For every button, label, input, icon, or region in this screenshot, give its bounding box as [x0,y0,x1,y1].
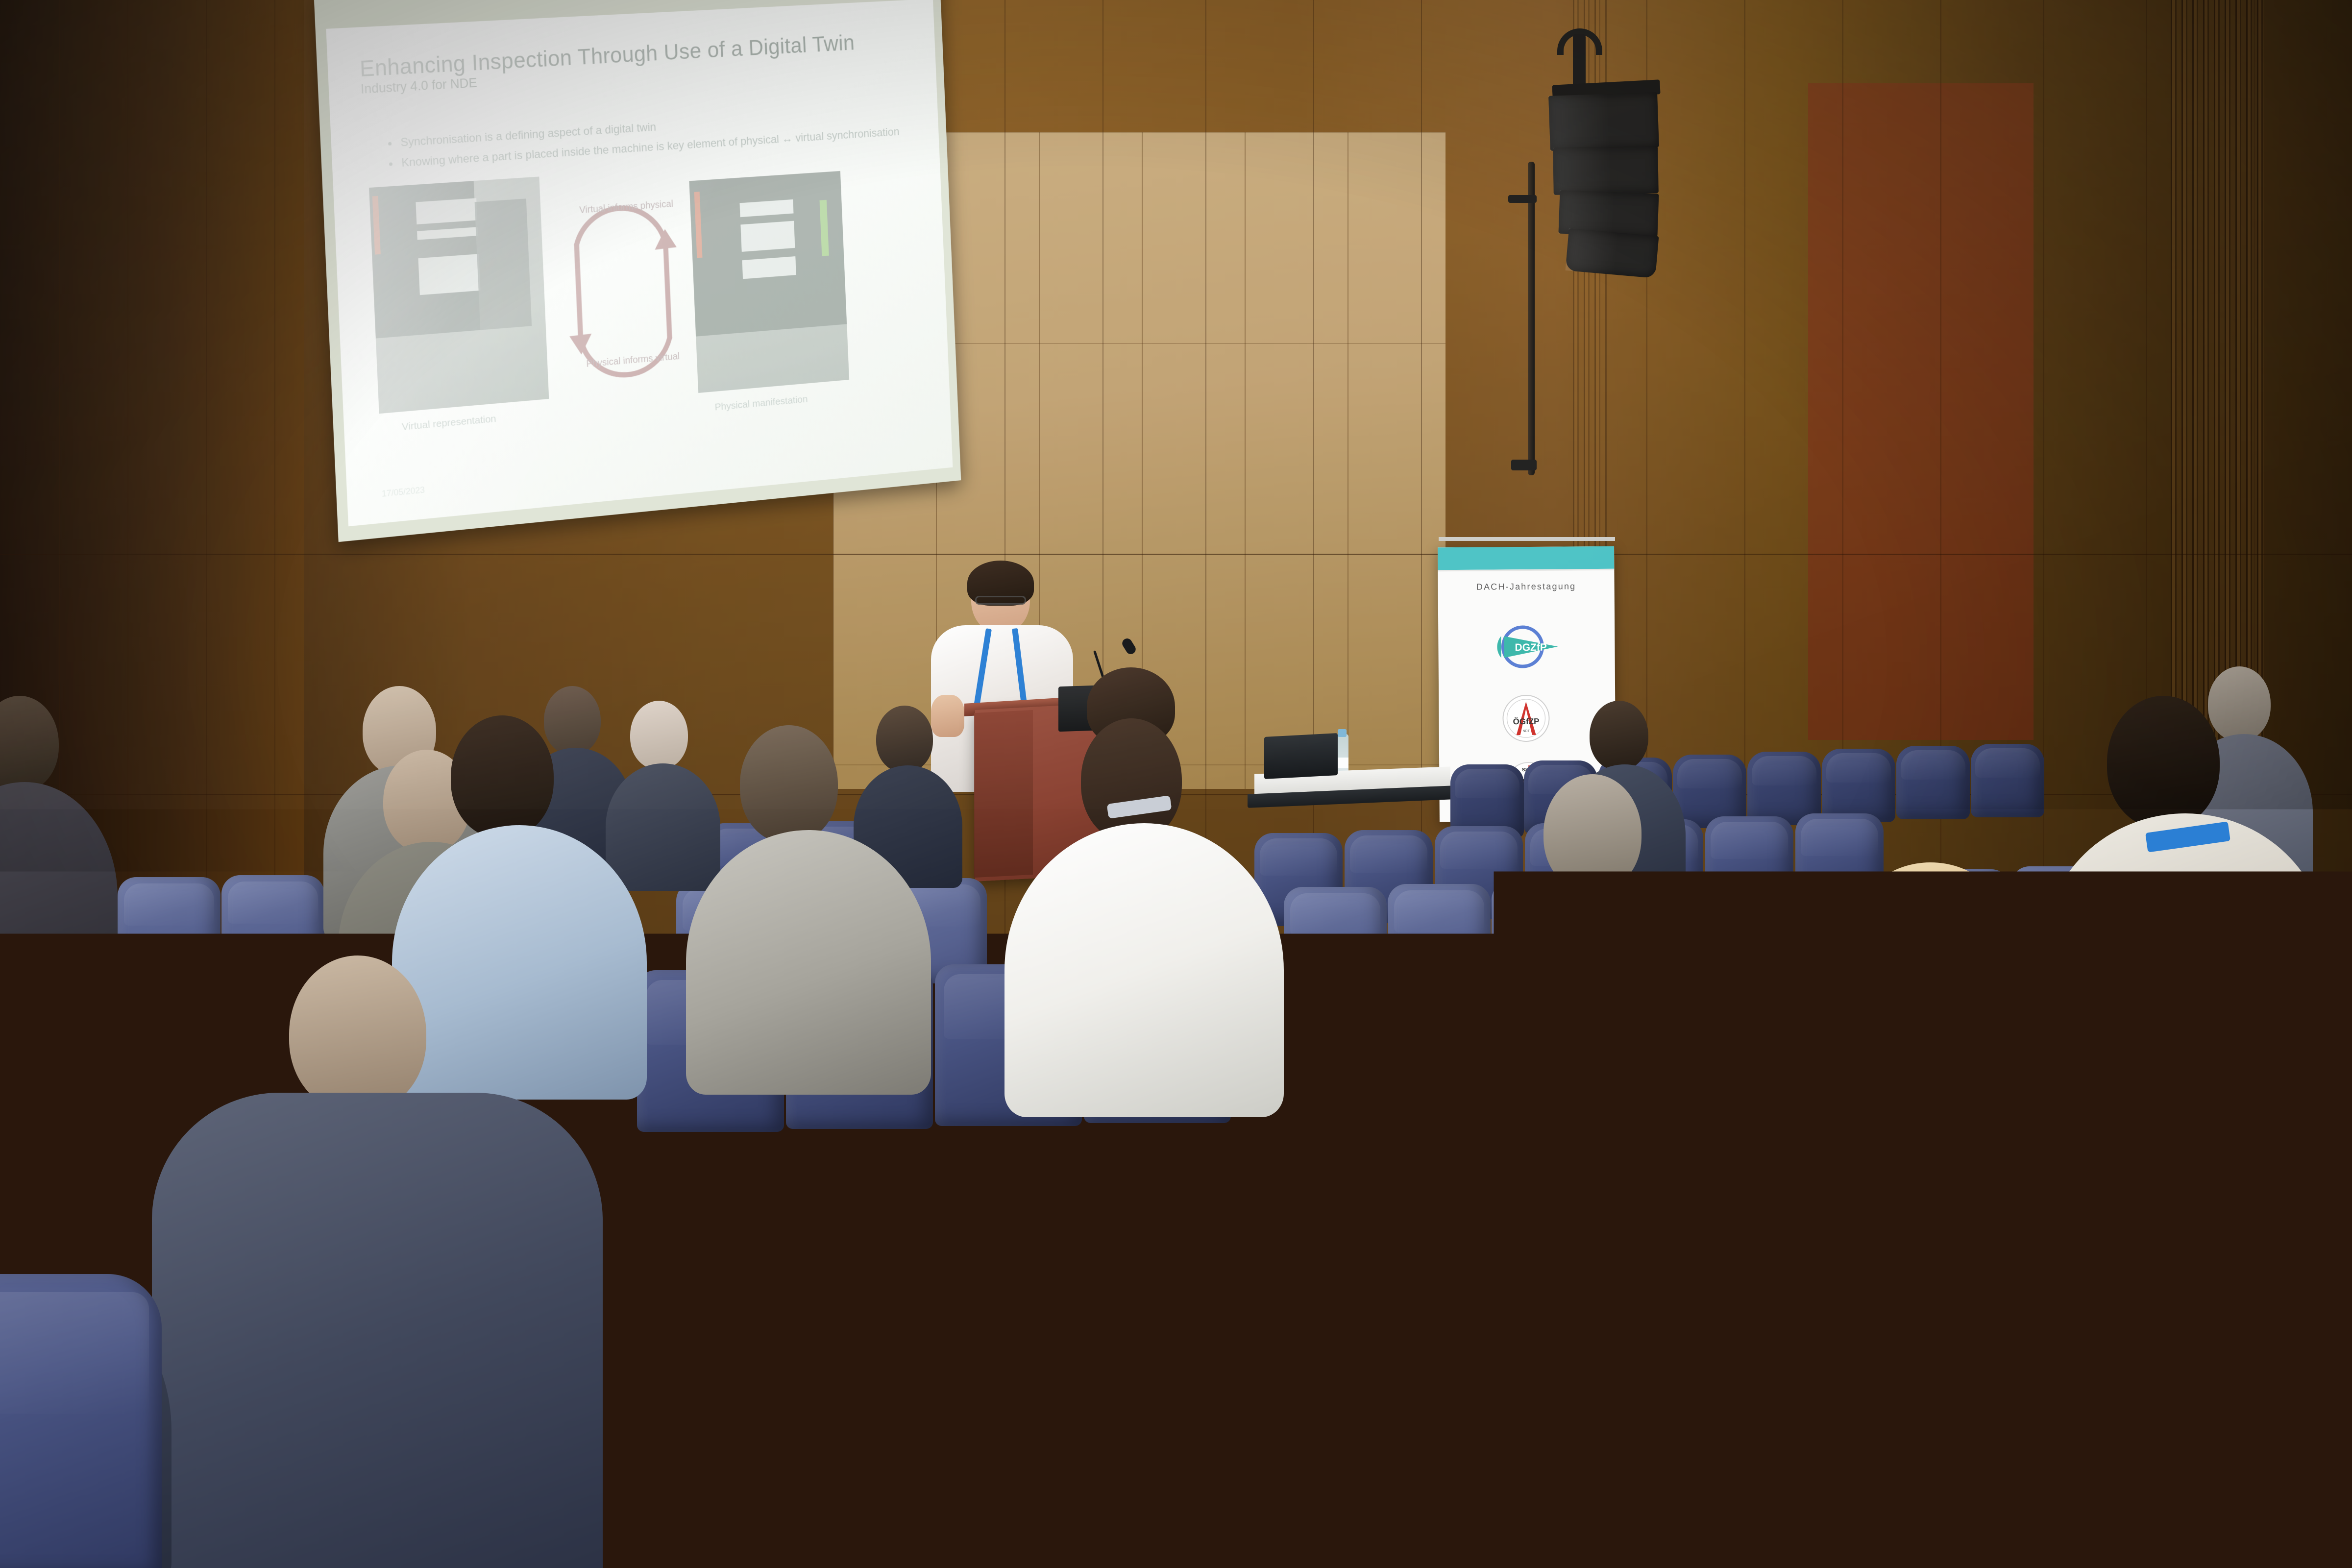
slide-title: Enhancing Inspection Through Use of a Di… [359,27,899,82]
wall-seam [274,0,275,1029]
svg-text:DGZfP: DGZfP [1515,642,1546,653]
slide-caption-physical: Physical manifestation [714,393,808,413]
torso [606,763,720,891]
speaker-rod-foot [1511,460,1537,470]
lectern-side-face [974,710,1033,878]
auditorium-chair[interactable] [1822,749,1895,822]
torso [392,825,647,1100]
auditorium-chair[interactable] [1971,744,2044,817]
head [2208,666,2271,741]
torso [152,1093,603,1568]
banner-title: DACH-Jahrestagung [1438,581,1615,593]
slide-bullet-list: Synchronisation is a defining aspect of … [365,104,926,179]
slide-footer-date: 17/05/2023 [382,485,425,499]
svg-text:ÖGfZP: ÖGfZP [1513,717,1540,726]
torso [686,830,931,1095]
head [451,715,554,838]
head [1690,921,2112,1416]
auditorium-chair[interactable] [0,1274,162,1568]
wall-seam [206,0,207,1029]
head [2107,696,2220,828]
projection-screen: Enhancing Inspection Through Use of a Di… [326,0,953,526]
ogfzp-logo: ÖGfZP NDT [1501,694,1551,743]
banner-top-rail [1439,537,1615,541]
slide-image-physical [689,171,849,393]
side-table-laptop [1264,733,1338,779]
auditorium-chair[interactable] [1284,887,1387,992]
projection-screen-frame: Enhancing Inspection Through Use of a Di… [314,0,961,542]
wall-horizontal-seam [0,554,2352,555]
head [544,686,601,755]
line-array-speaker [1553,146,1659,195]
svg-text:NDT: NDT [1522,730,1530,733]
slide-caption-virtual: Virtual representation [402,413,496,433]
auditorium-photo: Enhancing Inspection Through Use of a Di… [0,0,2352,1568]
speaker-rod-arm [1508,195,1537,203]
wall-seam [127,0,128,1029]
speaker-rigging-bracket [1573,34,1586,88]
head [876,706,933,772]
slide-image-virtual [369,176,549,414]
chair-mounting-bracket [1106,1151,1124,1225]
head [630,701,688,769]
chair-mounting-bracket [1053,1151,1070,1225]
auditorium-chair[interactable] [1896,746,1970,819]
speaker-support-rod [1528,162,1535,475]
torso [1485,879,1730,1144]
torso [1004,823,1284,1117]
line-array-speaker [1566,228,1659,278]
auditorium-chair[interactable] [1245,1284,1499,1568]
auditorium-chair[interactable] [2117,1294,2352,1568]
auditorium-chair[interactable] [725,1254,980,1568]
dgzfp-logo: DGZfP [1489,621,1564,672]
wall-accent-panel [1808,83,2033,740]
head [1543,774,1641,892]
line-array-speaker [1548,92,1659,151]
head [740,725,838,843]
presenter-glasses [975,596,1026,605]
presenter-hand-left [931,695,964,737]
bottle-cap [1338,729,1347,737]
chair-hinge [1073,1166,1087,1264]
banner-header-bar [1438,546,1614,570]
auditorium-chair[interactable] [1504,1323,1749,1568]
head [289,955,426,1112]
auditorium-chair[interactable] [985,1264,1240,1568]
head [1590,701,1648,770]
